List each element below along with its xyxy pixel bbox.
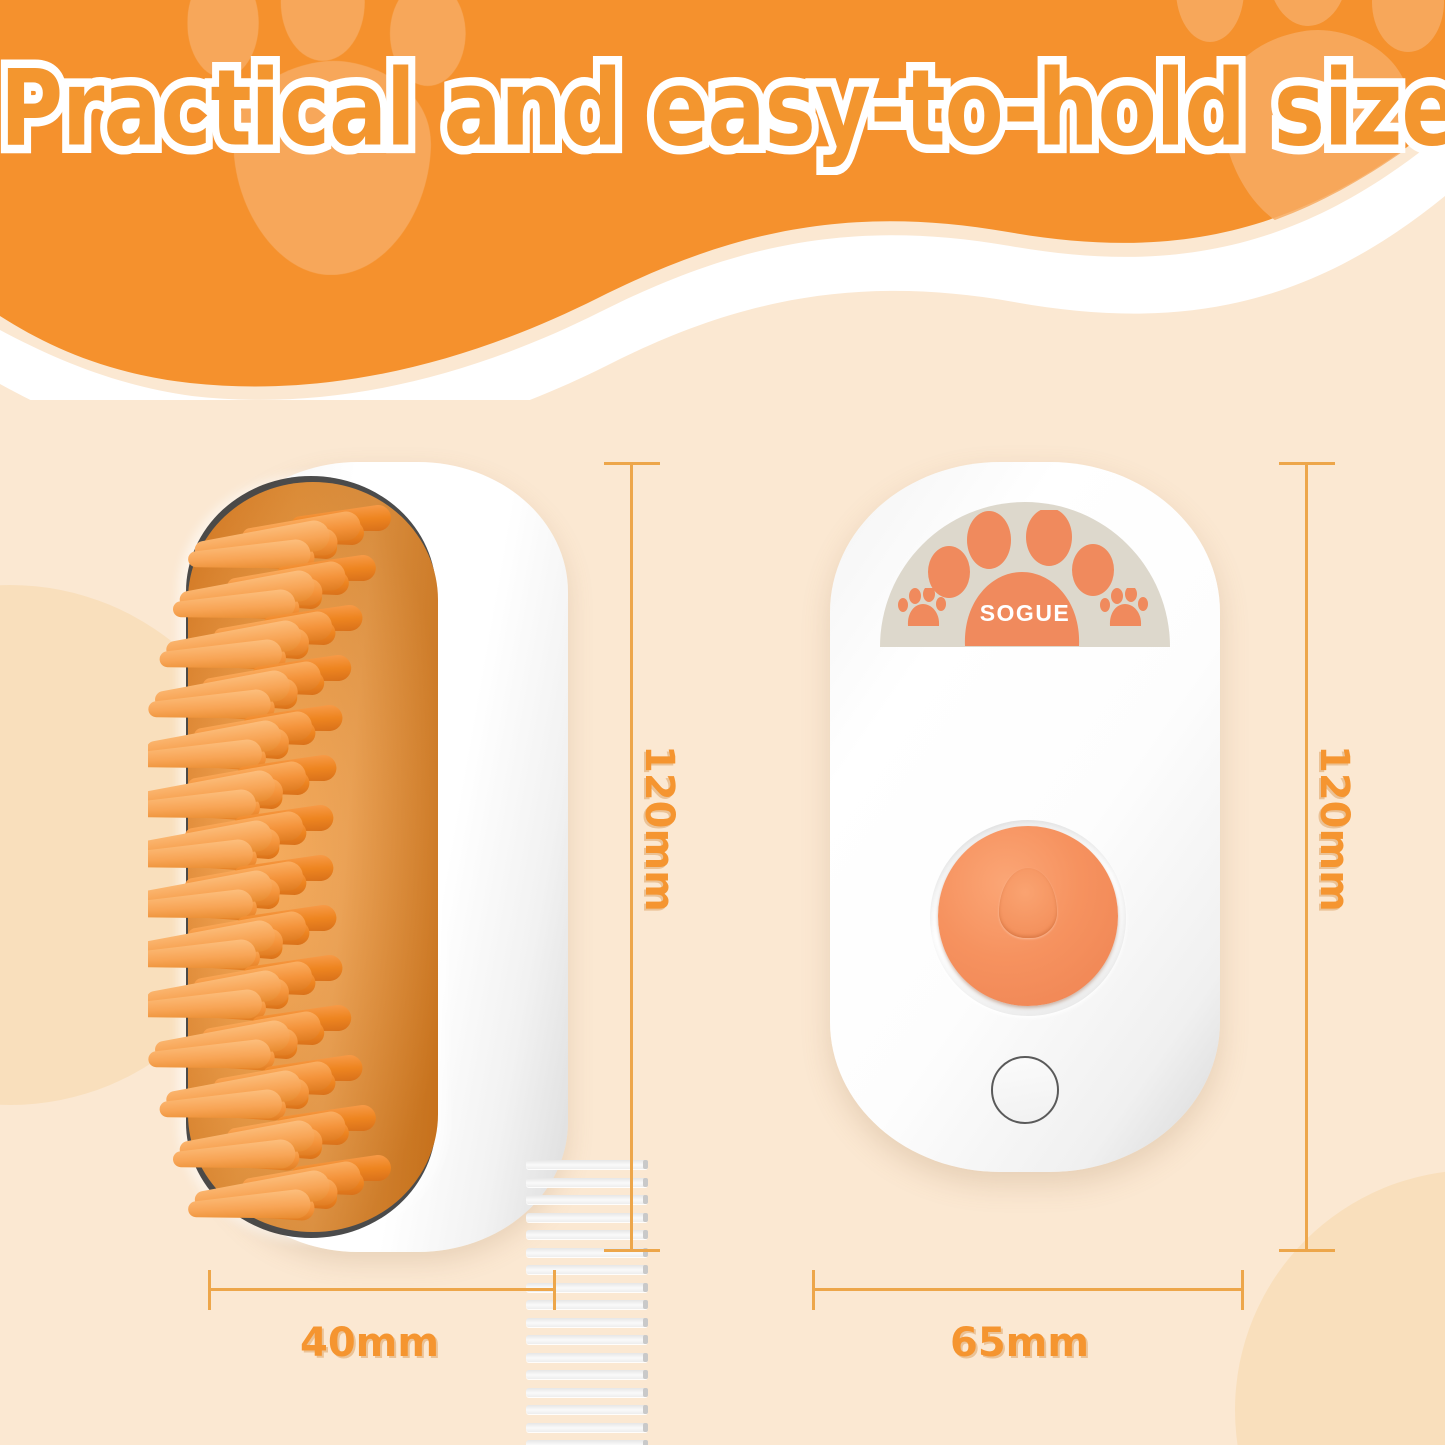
dimension-line-right-height	[1305, 462, 1308, 1252]
dimension-cap-left-height-top	[604, 462, 660, 465]
dimension-label-right-height: 120mm	[1311, 745, 1357, 912]
dimension-label-left-width: 40mm	[300, 1320, 439, 1366]
product-device-top-view: SOGUE	[830, 462, 1220, 1172]
dimension-line-left-height	[630, 462, 633, 1252]
product-brush-side-view	[148, 462, 568, 1252]
header-banner: Practical and easy-to-hold size	[0, 0, 1445, 400]
background-blob-right	[1235, 1170, 1445, 1445]
brand-name: SOGUE	[880, 600, 1170, 627]
dimension-line-left-width	[208, 1288, 556, 1291]
vent-slot	[526, 1353, 648, 1362]
dimension-cap-right-width-start	[812, 1270, 815, 1310]
brush-vent-slots	[526, 1160, 656, 1445]
vent-slot	[526, 1335, 648, 1344]
paw-pad-icon	[999, 868, 1057, 938]
vent-slot	[526, 1423, 648, 1432]
dimension-label-left-height: 120mm	[636, 745, 682, 912]
vent-slot	[526, 1370, 648, 1379]
power-button[interactable]	[938, 826, 1118, 1006]
vent-slot	[526, 1300, 648, 1309]
dimension-cap-left-width-end	[553, 1270, 556, 1310]
vent-slot	[526, 1440, 648, 1445]
dimension-cap-left-height-bottom	[604, 1249, 660, 1252]
infographic-canvas: Practical and easy-to-hold size	[0, 0, 1445, 1445]
dimension-cap-left-width-start	[208, 1270, 211, 1310]
dimension-cap-right-height-top	[1279, 462, 1335, 465]
indicator-light-icon[interactable]	[991, 1056, 1059, 1124]
dimension-label-right-width: 65mm	[950, 1320, 1089, 1366]
page-title: Practical and easy-to-hold size	[0, 48, 1445, 170]
dimension-cap-right-height-bottom	[1279, 1249, 1335, 1252]
power-button-well	[930, 820, 1126, 1016]
vent-slot	[526, 1388, 648, 1397]
brush-bristles	[148, 462, 568, 1252]
brand-logo-panel: SOGUE	[880, 502, 1170, 647]
vent-slot	[526, 1405, 648, 1414]
dimension-line-right-width	[812, 1288, 1244, 1291]
dimension-cap-right-width-end	[1241, 1270, 1244, 1310]
vent-slot	[526, 1318, 648, 1327]
vent-slot	[526, 1265, 648, 1274]
